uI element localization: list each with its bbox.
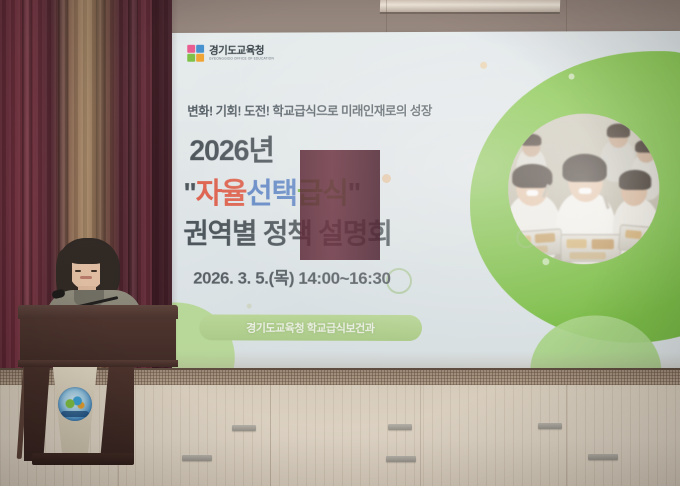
logo-english-text: GYEONGGIDO OFFICE OF EDUCATION [209, 58, 274, 61]
open-quote: " [183, 178, 195, 210]
floor-outlet-plate [386, 456, 416, 462]
slide-date-time: 2026. 3. 5.(목) 14:00~16:30 [193, 264, 390, 289]
decorative-dot [480, 62, 487, 69]
floor-outlet-plate [232, 425, 256, 431]
floor-outlet-plate [538, 423, 562, 429]
decorative-dot [569, 74, 575, 80]
decorative-dot [247, 304, 252, 309]
keyword-part-red: 자율 [196, 178, 246, 210]
photo-scene: 경기도교육청 GYEONGGIDO OFFICE OF EDUCATION 변화… [0, 0, 680, 486]
students-lunch-photo [508, 113, 659, 264]
floor-outlet-plate [588, 454, 618, 460]
logo-korean-text: 경기도교육청 [209, 45, 274, 56]
podium-desktop [18, 305, 178, 319]
logo-mark-icon [187, 45, 204, 62]
podium [18, 305, 178, 465]
slide-title-year: 2026년 [189, 127, 273, 169]
curtain-fold-behind-speaker [300, 150, 380, 260]
organization-logo: 경기도교육청 GYEONGGIDO OFFICE OF EDUCATION [187, 45, 274, 62]
decorative-dot [382, 174, 391, 183]
floor-outlet-plate [182, 455, 212, 461]
projection-screen: 경기도교육청 GYEONGGIDO OFFICE OF EDUCATION 변화… [152, 31, 680, 374]
keyword-part-blue: 선택 [246, 178, 297, 210]
slide-subtitle: 변화! 기회! 도전! 학교급식으로 미래인재로의 성장 [187, 100, 432, 119]
ceiling-light [380, 0, 560, 14]
department-badge: 경기도교육청 학교급식보건과 [199, 314, 422, 341]
floor-outlet-plate [388, 424, 412, 430]
school-emblem-icon [58, 387, 92, 421]
department-badge-label: 경기도교육청 학교급식보건과 [246, 320, 374, 336]
